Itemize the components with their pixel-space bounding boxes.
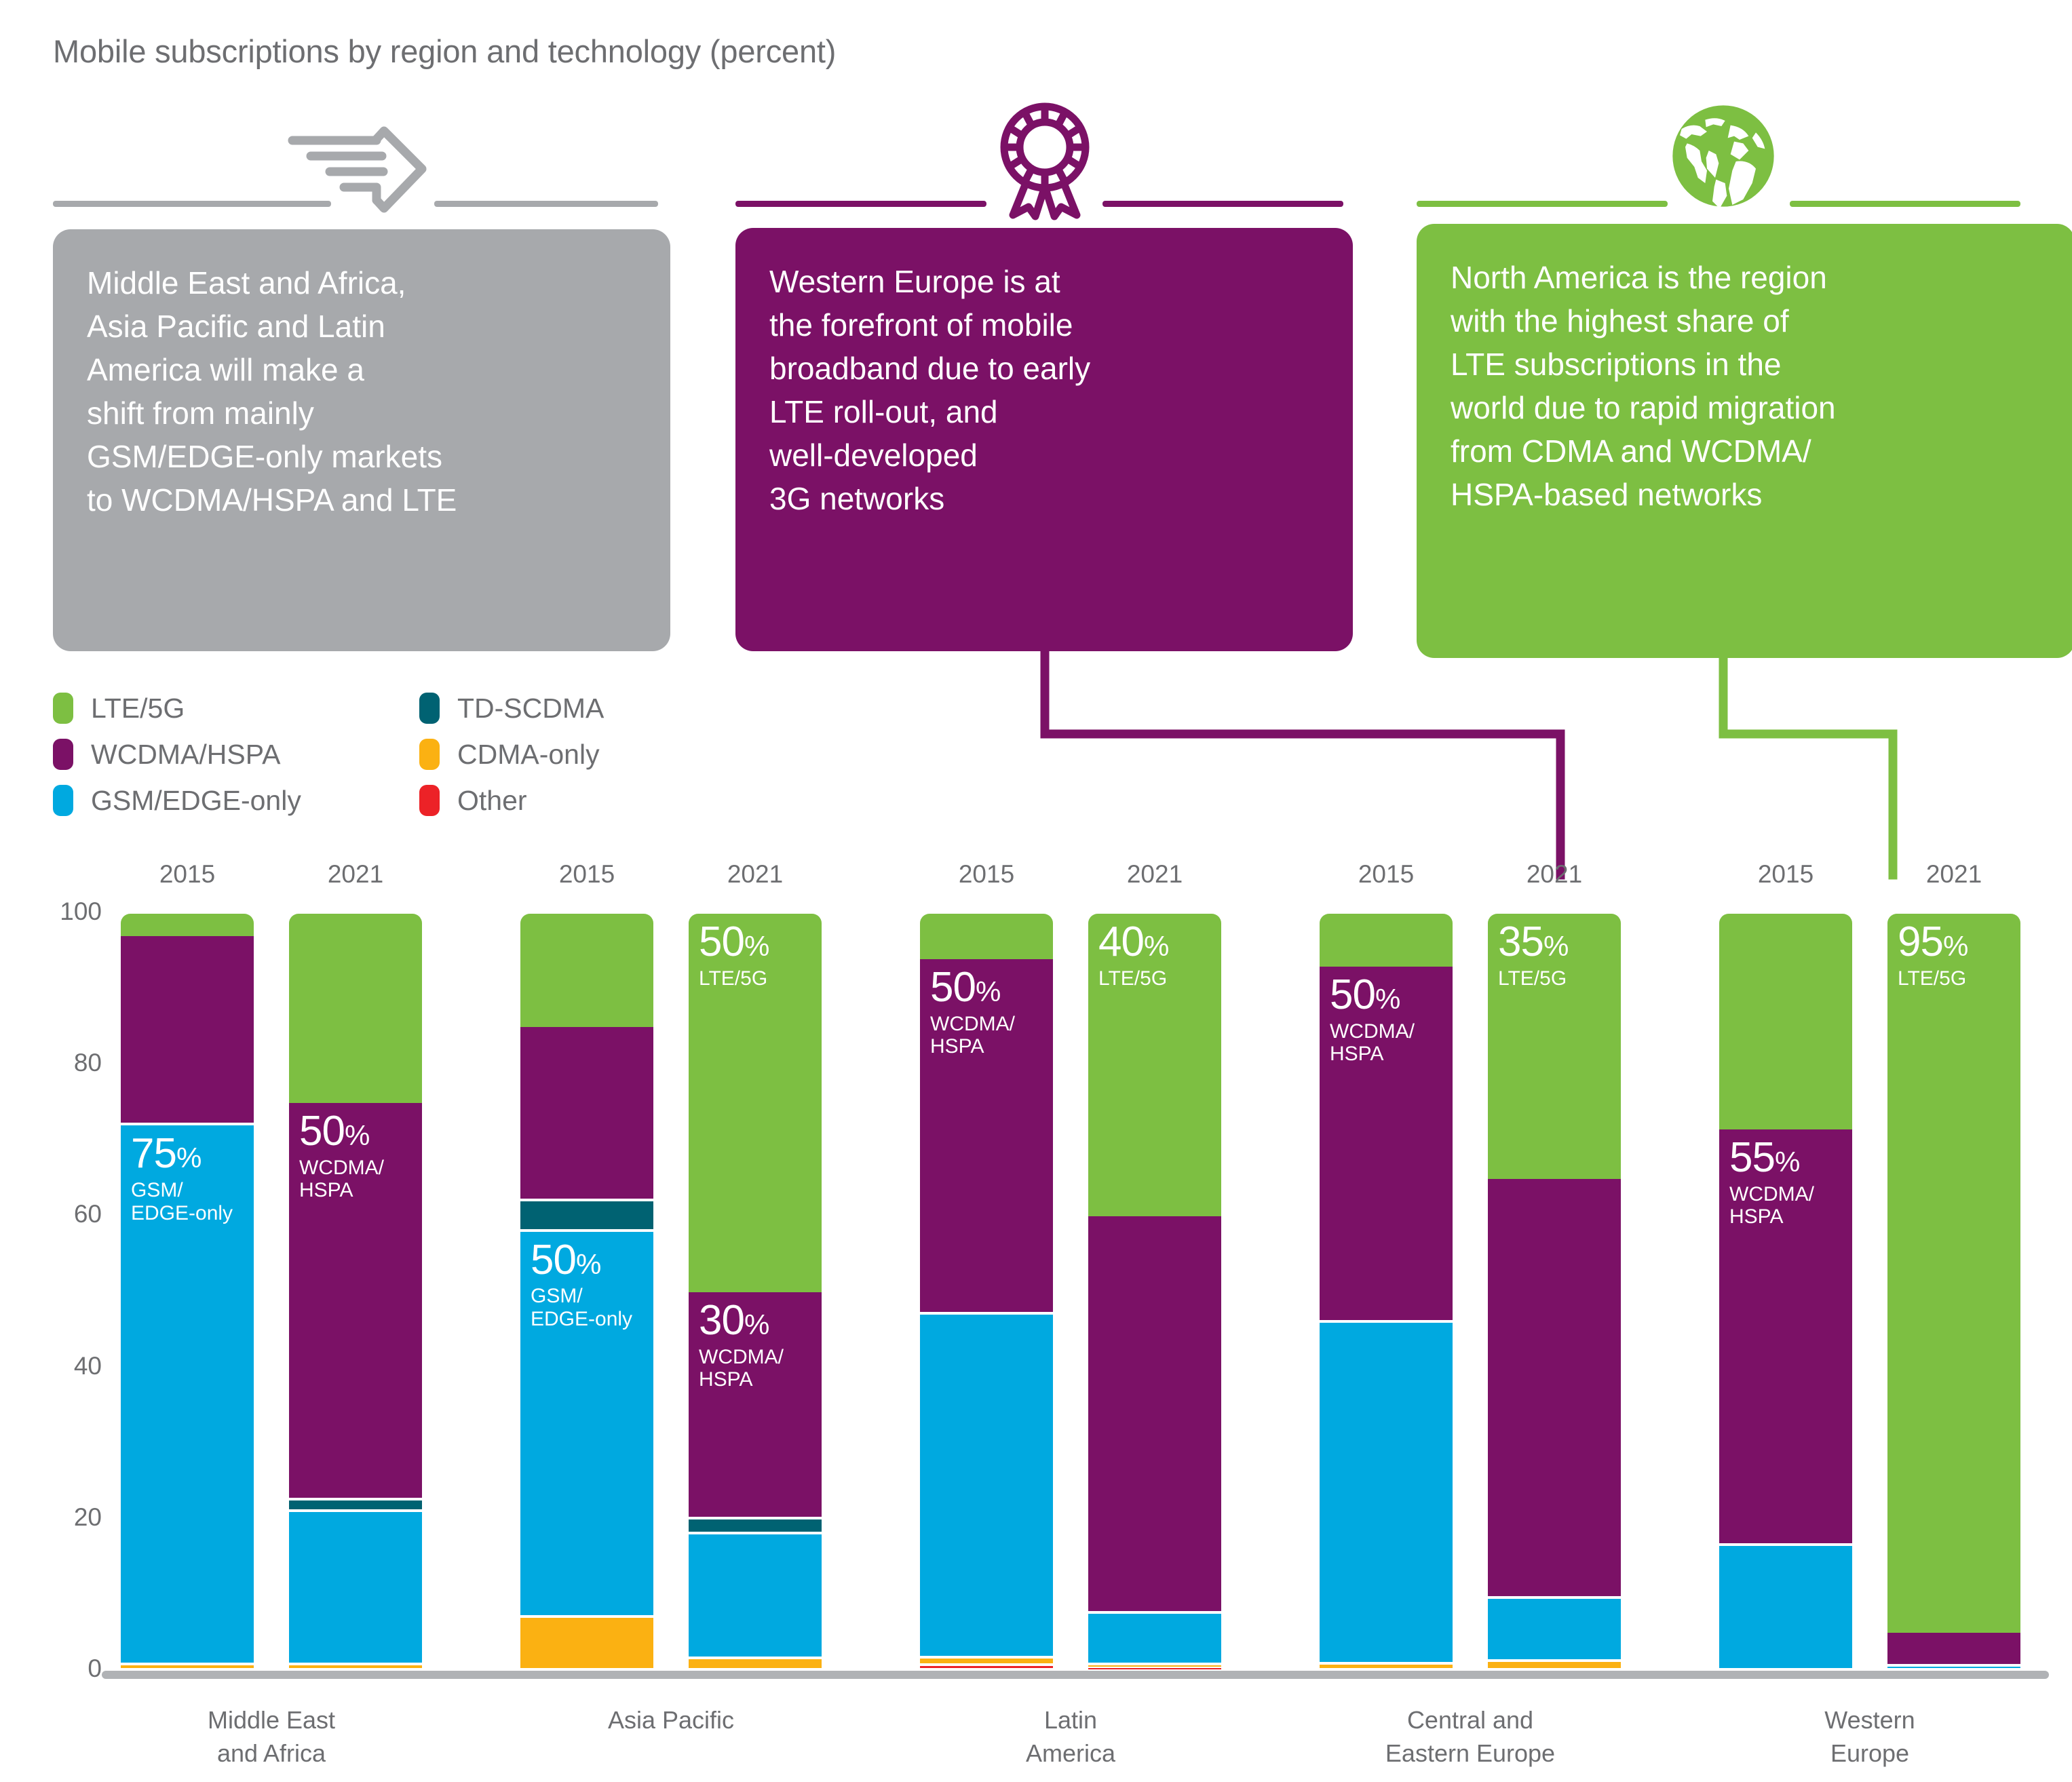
bar-segment-wcdma-hspa xyxy=(1488,1179,1621,1596)
bar-segment-td-scdma xyxy=(689,1519,822,1532)
year-label-la-2021: 2021 xyxy=(1094,860,1216,889)
bar-segment-cdma-only xyxy=(1088,1665,1221,1667)
bar-segment-cdma-only xyxy=(520,1618,653,1668)
bar-segment-lte-5g xyxy=(1719,914,1852,1129)
y-axis-tick-60: 60 xyxy=(27,1200,102,1228)
bar-segment-lte-5g xyxy=(1320,914,1453,967)
bar-segment-cdma-only xyxy=(1488,1662,1621,1668)
year-label-la-2015: 2015 xyxy=(925,860,1048,889)
bar-segment-cdma-only xyxy=(289,1665,422,1668)
bar-segment-gsm-edge-only xyxy=(121,1125,254,1663)
bar-cee-2021[interactable] xyxy=(1488,914,1621,1671)
bar-segment-cdma-only xyxy=(689,1659,822,1668)
bar-segment-wcdma-hspa xyxy=(289,1103,422,1498)
bar-la-2021[interactable] xyxy=(1088,914,1221,1671)
bar-segment-td-scdma xyxy=(289,1500,422,1509)
bar-segment-gsm-edge-only xyxy=(1320,1323,1453,1662)
bar-mea-2021[interactable] xyxy=(289,914,422,1671)
bar-segment-lte-5g xyxy=(1088,914,1221,1216)
bar-cee-2015[interactable] xyxy=(1320,914,1453,1671)
bar-segment-gsm-edge-only xyxy=(289,1512,422,1663)
bar-segment-lte-5g xyxy=(121,914,254,936)
bar-we-2015[interactable] xyxy=(1719,914,1852,1671)
bar-segment-gsm-edge-only xyxy=(1887,1667,2020,1668)
bar-segment-other xyxy=(920,1666,1053,1668)
bar-la-2015[interactable] xyxy=(920,914,1053,1671)
year-label-cee-2015: 2015 xyxy=(1325,860,1447,889)
bar-segment-wcdma-hspa xyxy=(689,1292,822,1517)
bar-segment-wcdma-hspa xyxy=(520,1027,653,1199)
axis-baseline xyxy=(102,1671,2049,1679)
bar-ap-2015[interactable] xyxy=(520,914,653,1671)
bar-segment-wcdma-hspa xyxy=(1320,967,1453,1320)
year-label-we-2021: 2021 xyxy=(1893,860,2015,889)
year-label-cee-2021: 2021 xyxy=(1493,860,1615,889)
region-label: Asia Pacific xyxy=(522,1704,820,1737)
infographic-page: Mobile subscriptions by region and techn… xyxy=(0,0,2072,1782)
y-axis-tick-0: 0 xyxy=(27,1654,102,1683)
region-label: Western Europe xyxy=(1721,1704,2019,1770)
bar-segment-cdma-only xyxy=(1320,1665,1453,1668)
bar-segment-gsm-edge-only xyxy=(920,1315,1053,1656)
y-axis-tick-100: 100 xyxy=(27,897,102,926)
bar-segment-gsm-edge-only xyxy=(520,1232,653,1615)
year-label-mea-2021: 2021 xyxy=(294,860,417,889)
stacked-bar-chart: 020406080100 20152021Middle East and Afr… xyxy=(0,0,2072,1782)
region-label: Middle East and Africa xyxy=(122,1704,421,1770)
bar-mea-2015[interactable] xyxy=(121,914,254,1671)
bar-segment-lte-5g xyxy=(920,914,1053,959)
bar-segment-td-scdma xyxy=(520,1201,653,1229)
bar-segment-cdma-only xyxy=(920,1659,1053,1663)
y-axis-tick-80: 80 xyxy=(27,1049,102,1077)
bar-segment-wcdma-hspa xyxy=(121,936,254,1123)
bar-segment-gsm-edge-only xyxy=(689,1534,822,1657)
bar-we-2021[interactable] xyxy=(1887,914,2020,1671)
bar-segment-wcdma-hspa xyxy=(1887,1633,2020,1664)
region-label: Central and Eastern Europe xyxy=(1321,1704,1619,1770)
y-axis-tick-40: 40 xyxy=(27,1352,102,1380)
bar-segment-lte-5g xyxy=(1887,914,2020,1633)
bar-segment-lte-5g xyxy=(1488,914,1621,1179)
bar-ap-2021[interactable] xyxy=(689,914,822,1671)
region-label: Latin America xyxy=(921,1704,1220,1770)
bar-segment-lte-5g xyxy=(520,914,653,1027)
bar-segment-wcdma-hspa xyxy=(1088,1216,1221,1611)
y-axis-tick-20: 20 xyxy=(27,1503,102,1532)
bar-segment-lte-5g xyxy=(689,914,822,1292)
year-label-ap-2021: 2021 xyxy=(694,860,816,889)
bar-segment-lte-5g xyxy=(289,914,422,1103)
bar-segment-wcdma-hspa xyxy=(920,959,1053,1313)
bar-segment-gsm-edge-only xyxy=(1719,1546,1852,1668)
bar-segment-wcdma-hspa xyxy=(1719,1129,1852,1543)
year-label-we-2015: 2015 xyxy=(1725,860,1847,889)
bar-segment-cdma-only xyxy=(121,1665,254,1668)
year-label-mea-2015: 2015 xyxy=(126,860,248,889)
bar-segment-gsm-edge-only xyxy=(1488,1599,1621,1659)
bar-segment-other xyxy=(1088,1668,1221,1669)
year-label-ap-2015: 2015 xyxy=(526,860,648,889)
bar-segment-gsm-edge-only xyxy=(1088,1614,1221,1663)
